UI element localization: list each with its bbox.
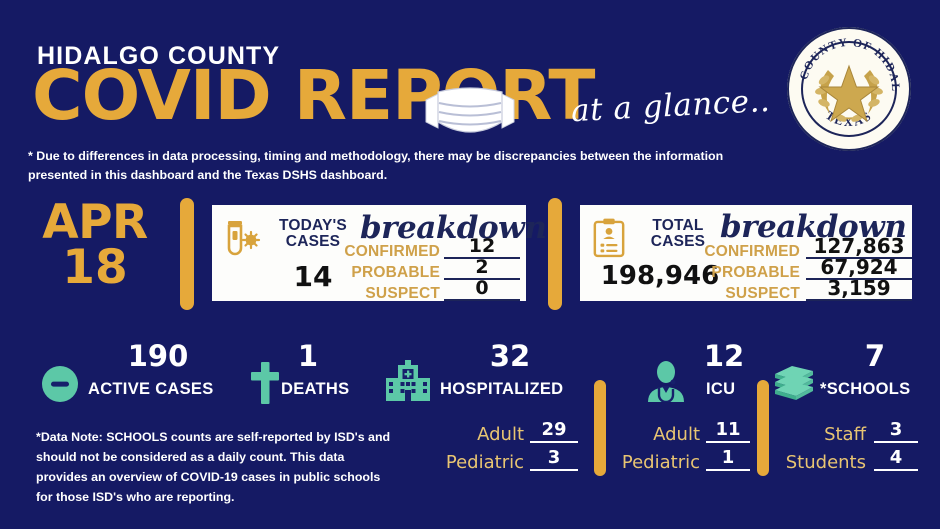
stat-value-hospitalized: 32 xyxy=(480,339,540,373)
icu-sub-value-1: 1 xyxy=(706,447,750,468)
county-seal: THE COUNTY OF HIDALGO TEXAS xyxy=(786,26,912,152)
minus-circle-icon xyxy=(41,365,79,408)
hospitalized-sub-rule-1 xyxy=(530,469,578,471)
stat-value-icu: 12 xyxy=(694,339,754,373)
total-row-label-2: SUSPECT xyxy=(684,285,800,303)
hospitalized-sub-value-1: 3 xyxy=(530,447,578,468)
todays-row-rule-2 xyxy=(444,299,520,301)
stat-value-active-cases: 190 xyxy=(118,339,198,373)
schools-sub-label-0: Staff xyxy=(772,424,866,445)
divider-bar-2 xyxy=(548,198,562,310)
total-cases-label-line1: TOTAL xyxy=(630,218,726,234)
todays-row-value-2: 0 xyxy=(448,277,516,299)
report-month: APR xyxy=(30,200,160,245)
stat-label-active-cases: ACTIVE CASES xyxy=(88,380,214,399)
stat-label-hospitalized: HOSPITALIZED xyxy=(440,380,563,399)
stat-label-schools: *SCHOOLS xyxy=(820,380,910,399)
todays-row-value-0: 12 xyxy=(448,235,516,257)
report-date: APR 18 xyxy=(30,200,160,290)
icu-sub-label-0: Adult xyxy=(616,424,700,445)
face-mask-icon xyxy=(420,78,520,148)
hospitalized-sub-rule-0 xyxy=(530,441,578,443)
doctor-icon xyxy=(644,360,688,407)
icu-sub-label-1: Pediatric xyxy=(616,452,700,473)
todays-row-value-1: 2 xyxy=(448,256,516,278)
disclaimer-text: * Due to differences in data processing,… xyxy=(28,147,758,185)
todays-cases-label-line1: TODAY'S xyxy=(260,218,366,234)
report-day: 18 xyxy=(30,245,160,290)
infographic-canvas: HIDALGO COUNTY COVID REPORT at a glance.… xyxy=(0,0,940,529)
stat-label-deaths: DEATHS xyxy=(281,380,349,399)
stat-value-schools: 7 xyxy=(855,339,895,373)
divider-bar-3 xyxy=(594,380,606,476)
total-row-value-2: 3,159 xyxy=(806,276,912,300)
clipboard-icon xyxy=(592,217,626,264)
divider-bar-1 xyxy=(180,198,194,310)
schools-sub-label-1: Students xyxy=(772,452,866,473)
todays-row-label-1: PROBABLE xyxy=(324,264,440,282)
test-tube-virus-icon xyxy=(222,219,262,266)
schools-sub-value-0: 3 xyxy=(874,419,918,440)
data-note: *Data Note: SCHOOLS counts are self-repo… xyxy=(36,427,396,507)
divider-bar-4 xyxy=(757,380,769,476)
stat-value-deaths: 1 xyxy=(288,339,328,373)
books-icon xyxy=(772,362,816,407)
icu-sub-rule-0 xyxy=(706,441,750,443)
tagline: at a glance.. xyxy=(570,83,771,129)
schools-sub-rule-0 xyxy=(874,441,918,443)
hospitalized-sub-label-0: Adult xyxy=(418,424,524,445)
schools-sub-value-1: 4 xyxy=(874,447,918,468)
todays-row-label-2: SUSPECT xyxy=(324,285,440,303)
icu-sub-value-0: 11 xyxy=(706,419,750,440)
hospital-icon xyxy=(385,360,431,407)
hospitalized-sub-value-0: 29 xyxy=(530,419,578,440)
cross-icon xyxy=(250,362,280,409)
total-cases-card: TOTAL CASES 198,946 breakdown CONFIRMED … xyxy=(578,203,914,303)
schools-sub-rule-1 xyxy=(874,469,918,471)
todays-row-label-0: CONFIRMED xyxy=(324,243,440,261)
stat-label-icu: ICU xyxy=(706,380,735,399)
hospitalized-sub-label-1: Pediatric xyxy=(418,452,524,473)
icu-sub-rule-1 xyxy=(706,469,750,471)
total-row-label-1: PROBABLE xyxy=(684,264,800,282)
total-row-rule-2 xyxy=(806,299,912,301)
total-row-label-0: CONFIRMED xyxy=(684,243,800,261)
todays-cases-card: TODAY'S CASES 14 breakdown CONFIRMED 12 … xyxy=(210,203,528,303)
